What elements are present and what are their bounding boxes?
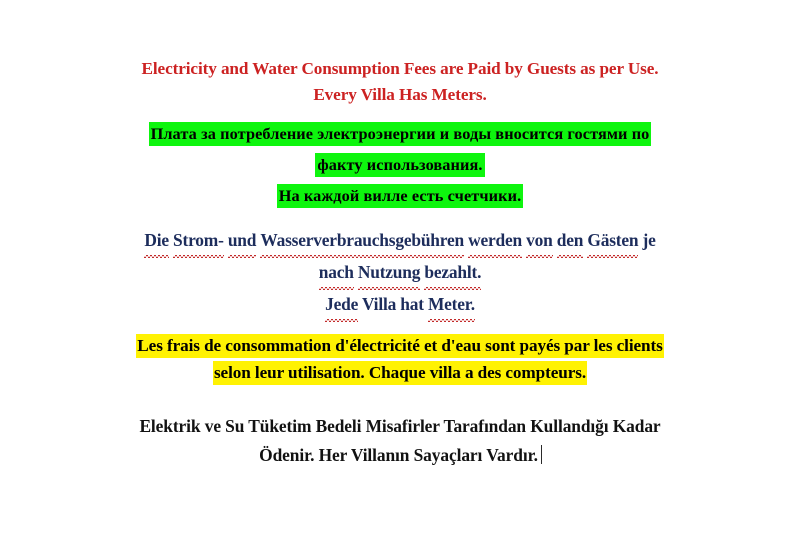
english-line-1: Electricity and Water Consumption Fees a… [62,56,738,82]
spellcheck-word: Die [144,224,169,256]
french-line-1: Les frais de consommation d'électricité … [62,332,738,359]
french-line-2-text: selon leur utilisation. Chaque villa a d… [213,361,587,385]
turkish-line-2-text: Ödenir. Her Villanın Sayaçları Vardır. [258,444,539,466]
spellcheck-word: Strom- [173,224,224,256]
french-line-1-text: Les frais de consommation d'électricité … [136,334,663,358]
german-line-3: Jede Villa hat Meter. [62,288,738,320]
russian-line-3: На каждой вилле есть счетчики. [62,180,738,211]
spellcheck-word: bezahlt. [424,256,481,288]
turkish-line-1-text: Elektrik ve Su Tüketim Bedeli Misafirler… [138,415,661,437]
spellcheck-word: Meter. [428,288,475,320]
english-line-2-text: Every Villa Has Meters. [312,84,487,105]
paragraph-french[interactable]: Les frais de consommation d'électricité … [62,332,738,386]
german-line-1: Die Strom- und Wasserverbrauchsgebühren … [62,224,738,256]
german-word-plain: je [643,230,656,250]
spellcheck-word: Nutzung [358,256,420,288]
document-page: Electricity and Water Consumption Fees a… [0,0,800,560]
russian-line-2-text: факту использования. [315,153,484,177]
spellcheck-word: werden [468,224,522,256]
english-line-2: Every Villa Has Meters. [62,82,738,108]
spellcheck-word: Wasserverbrauchsgebühren [260,224,464,256]
spellcheck-word: den [557,224,583,256]
paragraph-english[interactable]: Electricity and Water Consumption Fees a… [62,56,738,108]
german-line-1-run: Die Strom- und Wasserverbrauchsgebühren … [143,229,656,251]
german-word-plain: Villa [362,294,396,314]
spellcheck-word: Jede [325,288,358,320]
german-line-2-run: nach Nutzung bezahlt. [318,261,483,283]
german-word-plain: hat [400,294,424,314]
german-line-3-run: Jede Villa hat Meter. [324,293,476,315]
turkish-line-2: Ödenir. Her Villanın Sayaçları Vardır. [62,441,738,470]
turkish-line-1: Elektrik ve Su Tüketim Bedeli Misafirler… [62,412,738,441]
spellcheck-word: von [526,224,552,256]
paragraph-russian[interactable]: Плата за потребление электроэнергии и во… [62,118,738,211]
russian-line-3-text: На каждой вилле есть счетчики. [277,184,524,208]
german-line-2: nach Nutzung bezahlt. [62,256,738,288]
english-line-1-text: Electricity and Water Consumption Fees a… [141,58,660,79]
paragraph-german[interactable]: Die Strom- und Wasserverbrauchsgebühren … [62,224,738,320]
spellcheck-word: Gästen [587,224,638,256]
notice-text-body[interactable]: Electricity and Water Consumption Fees a… [62,56,738,470]
russian-line-1-text: Плата за потребление электроэнергии и во… [149,122,652,146]
french-line-2: selon leur utilisation. Chaque villa a d… [62,359,738,386]
russian-line-1: Плата за потребление электроэнергии и во… [62,118,738,149]
text-cursor-caret [541,445,542,464]
russian-line-2: факту использования. [62,149,738,180]
spellcheck-word: nach [319,256,354,288]
spellcheck-word: und [228,224,256,256]
paragraph-turkish[interactable]: Elektrik ve Su Tüketim Bedeli Misafirler… [62,412,738,470]
